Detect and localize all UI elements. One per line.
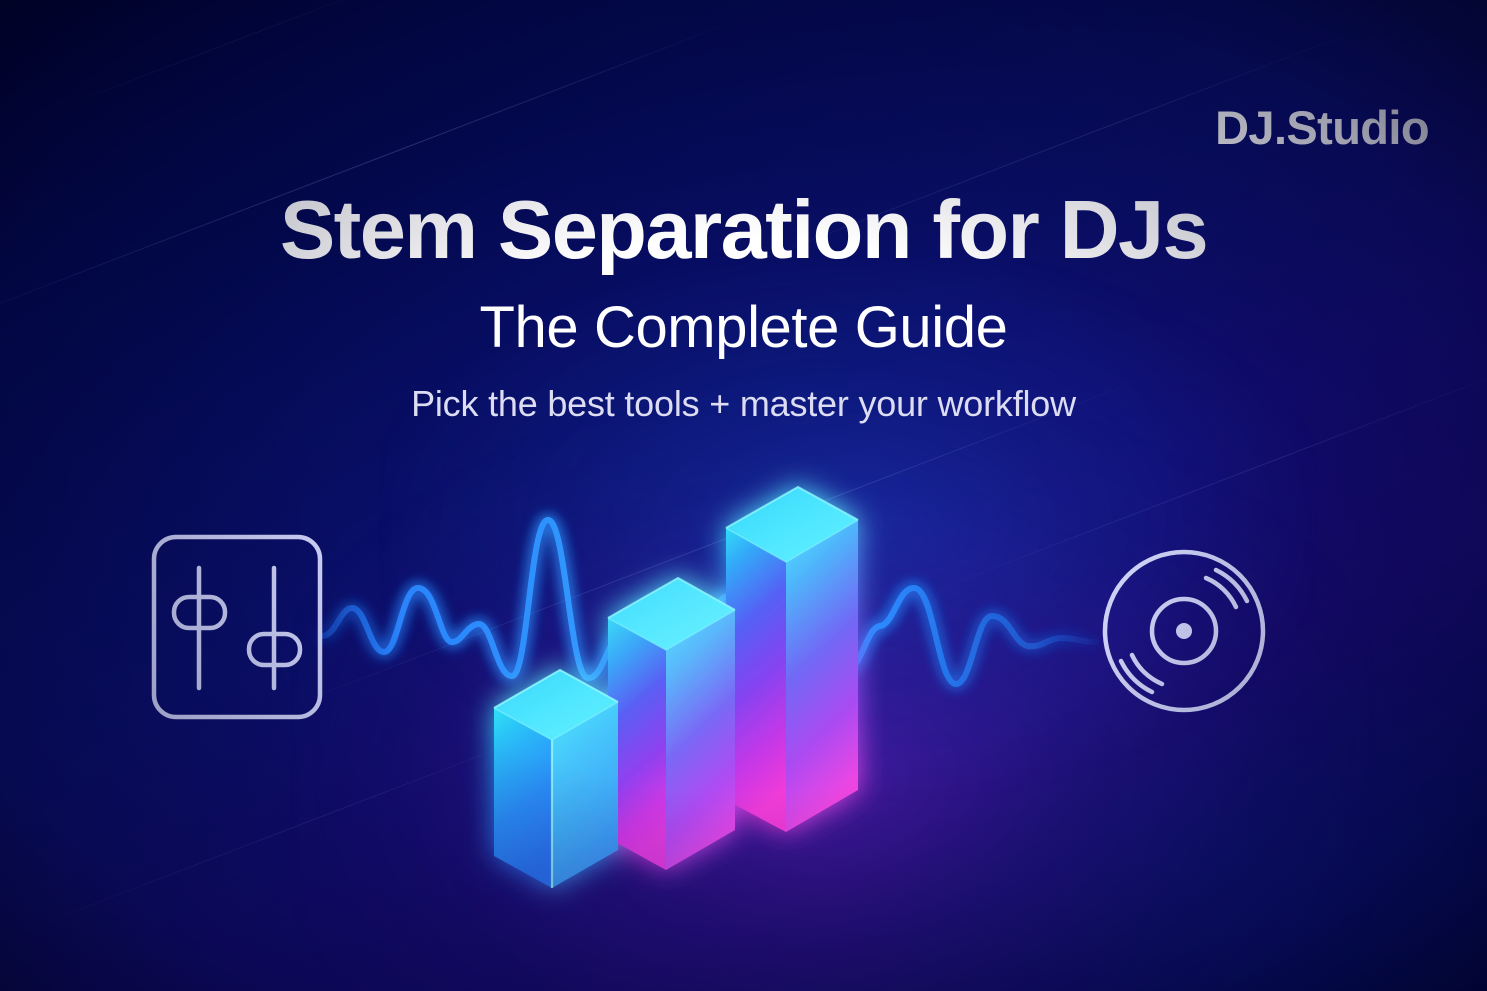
hero-banner: DJ.Studio Stem Separation for DJs The Co… (0, 0, 1487, 991)
background-vignette (0, 0, 1487, 991)
